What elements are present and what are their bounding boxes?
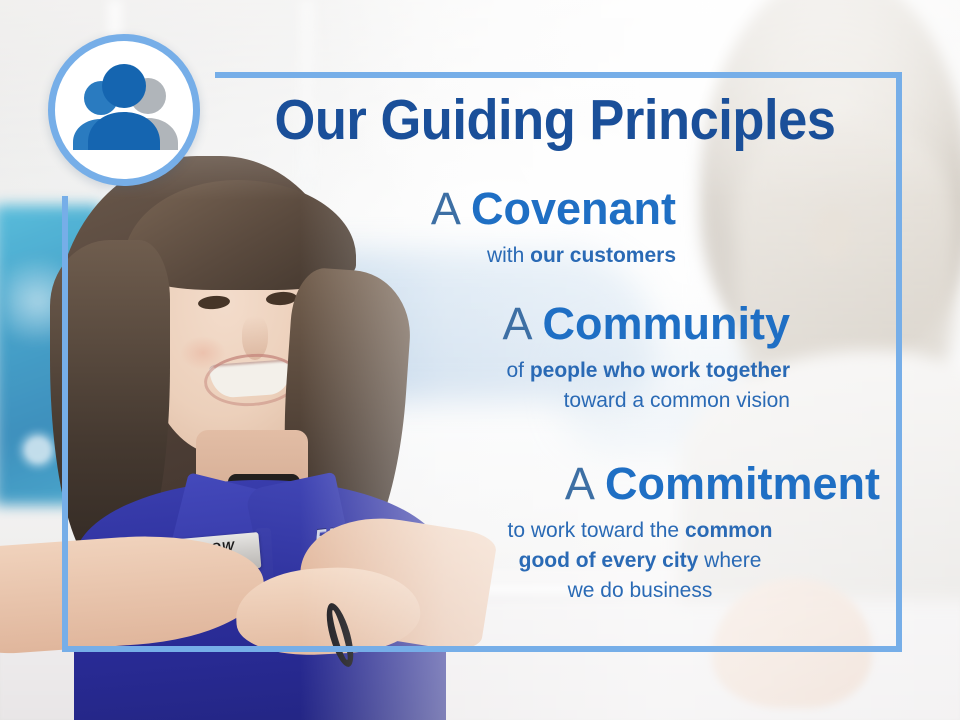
principle-community-sub-line1: of people who work together (270, 356, 790, 386)
principle-commitment-sub-tail: where (698, 549, 761, 572)
principle-commitment-sub-lead: to work toward the (508, 519, 685, 542)
principle-community-sub-lead: of (506, 359, 529, 382)
principle-covenant-article: A (431, 183, 459, 234)
principle-commitment: A Commitment to work toward the common g… (330, 460, 880, 606)
principle-community-sub-bold: people who work together (530, 359, 790, 382)
principle-commitment-sub-bold2: good of every city (519, 549, 699, 572)
principle-community-word: Community (543, 298, 791, 349)
principle-covenant-word: Covenant (471, 183, 676, 234)
frame-border-right (896, 72, 902, 652)
principle-community-article: A (502, 298, 530, 349)
principle-commitment-sub-bold1: common (685, 519, 773, 542)
principle-covenant-sub-lead: with (487, 244, 530, 267)
principle-community-heading: A Community (270, 300, 790, 347)
frame-border-left (62, 196, 68, 652)
principle-community-sub-line2: toward a common vision (270, 386, 790, 416)
principle-covenant-heading: A Covenant (236, 185, 676, 232)
principle-commitment-article: A (565, 458, 593, 509)
principle-commitment-sub-line2: good of every city where (400, 546, 880, 576)
guiding-principles-graphic: FLOW Automotive FLOW Our Guiding Princip… (0, 0, 960, 720)
principle-covenant-sub-bold: our customers (530, 244, 676, 267)
principle-commitment-word: Commitment (605, 458, 880, 509)
page-title: Our Guiding Principles (242, 92, 868, 149)
principle-covenant-subtext: with our customers (236, 241, 676, 271)
principle-commitment-sub-line3: we do business (400, 576, 880, 606)
principle-commitment-sub-line1: to work toward the common (400, 516, 880, 546)
principle-covenant: A Covenant with our customers (236, 185, 676, 271)
principle-community-subtext: of people who work together toward a com… (270, 356, 790, 416)
principle-commitment-heading: A Commitment (330, 460, 880, 507)
frame-border-bottom (62, 646, 902, 652)
principle-commitment-subtext: to work toward the common good of every … (330, 516, 880, 605)
customer-ear (812, 206, 852, 262)
principle-community: A Community of people who work together … (270, 300, 790, 416)
people-group-icon (48, 34, 200, 186)
frame-border-top (215, 72, 902, 78)
